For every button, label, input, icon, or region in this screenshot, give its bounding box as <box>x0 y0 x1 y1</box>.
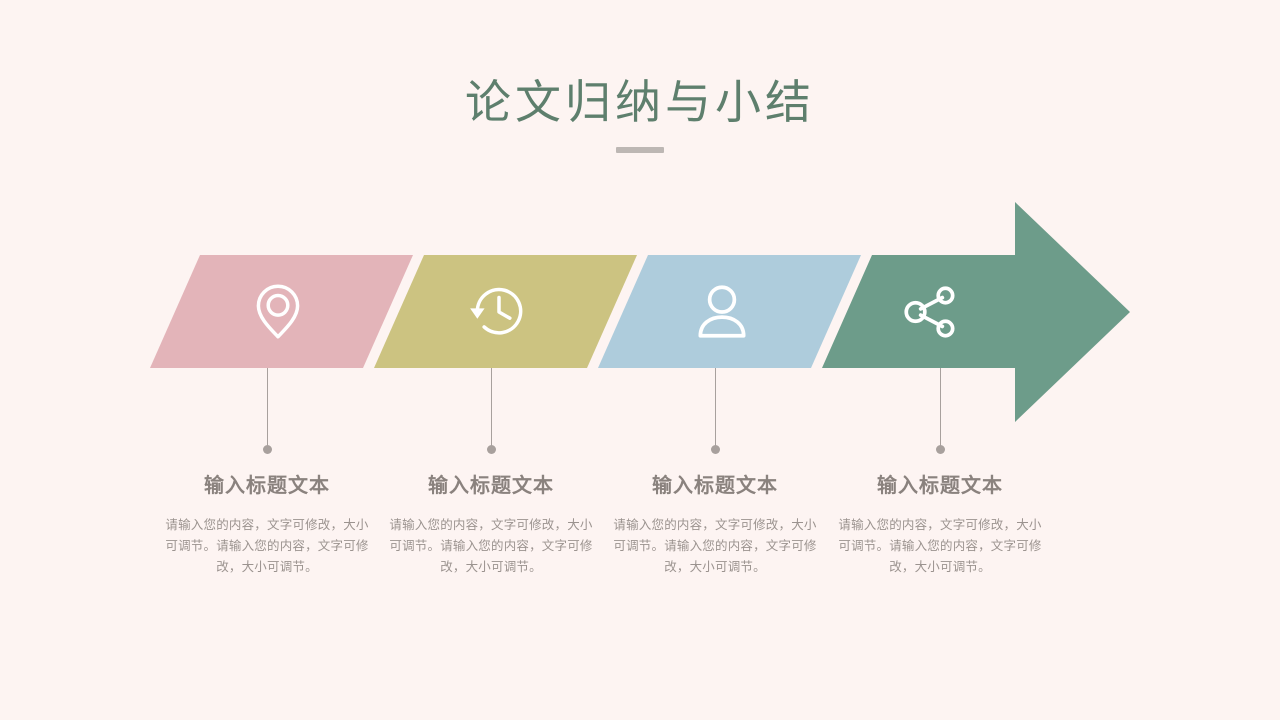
caption-columns: 输入标题文本 请输入您的内容，文字可修改，大小可调节。请输入您的内容，文字可修改… <box>0 472 1280 612</box>
caption-body-3: 请输入您的内容，文字可修改，大小可调节。请输入您的内容，文字可修改，大小可调节。 <box>602 514 828 577</box>
caption-column-4: 输入标题文本 请输入您的内容，文字可修改，大小可调节。请输入您的内容，文字可修改… <box>827 472 1053 577</box>
caption-title-3: 输入标题文本 <box>602 472 828 498</box>
page-title: 论文归纳与小结 <box>0 74 1280 130</box>
caption-column-1: 输入标题文本 请输入您的内容，文字可修改，大小可调节。请输入您的内容，文字可修改… <box>154 472 380 577</box>
segment-2-shape <box>374 255 637 368</box>
segment-1-shape <box>150 255 413 368</box>
segment-4-shape <box>822 202 1130 422</box>
connector-dot-2 <box>487 445 496 454</box>
caption-body-2: 请输入您的内容，文字可修改，大小可调节。请输入您的内容，文字可修改，大小可调节。 <box>378 514 604 577</box>
connector-line-1 <box>267 368 268 450</box>
caption-column-3: 输入标题文本 请输入您的内容，文字可修改，大小可调节。请输入您的内容，文字可修改… <box>602 472 828 577</box>
caption-title-4: 输入标题文本 <box>827 472 1053 498</box>
caption-title-1: 输入标题文本 <box>154 472 380 498</box>
process-arrow-band <box>0 196 1280 428</box>
title-underline-rule <box>616 147 664 153</box>
caption-title-2: 输入标题文本 <box>378 472 604 498</box>
caption-body-1: 请输入您的内容，文字可修改，大小可调节。请输入您的内容，文字可修改，大小可调节。 <box>154 514 380 577</box>
connector-line-2 <box>491 368 492 450</box>
arrow-shapes <box>0 196 1280 428</box>
caption-column-2: 输入标题文本 请输入您的内容，文字可修改，大小可调节。请输入您的内容，文字可修改… <box>378 472 604 577</box>
connector-dot-4 <box>936 445 945 454</box>
title-block: 论文归纳与小结 <box>0 74 1280 153</box>
connector-dot-3 <box>711 445 720 454</box>
caption-body-4: 请输入您的内容，文字可修改，大小可调节。请输入您的内容，文字可修改，大小可调节。 <box>827 514 1053 577</box>
slide-canvas: 论文归纳与小结 <box>0 0 1280 720</box>
segment-3-shape <box>598 255 861 368</box>
connector-line-3 <box>715 368 716 450</box>
connector-line-4 <box>940 368 941 450</box>
connector-dot-1 <box>263 445 272 454</box>
